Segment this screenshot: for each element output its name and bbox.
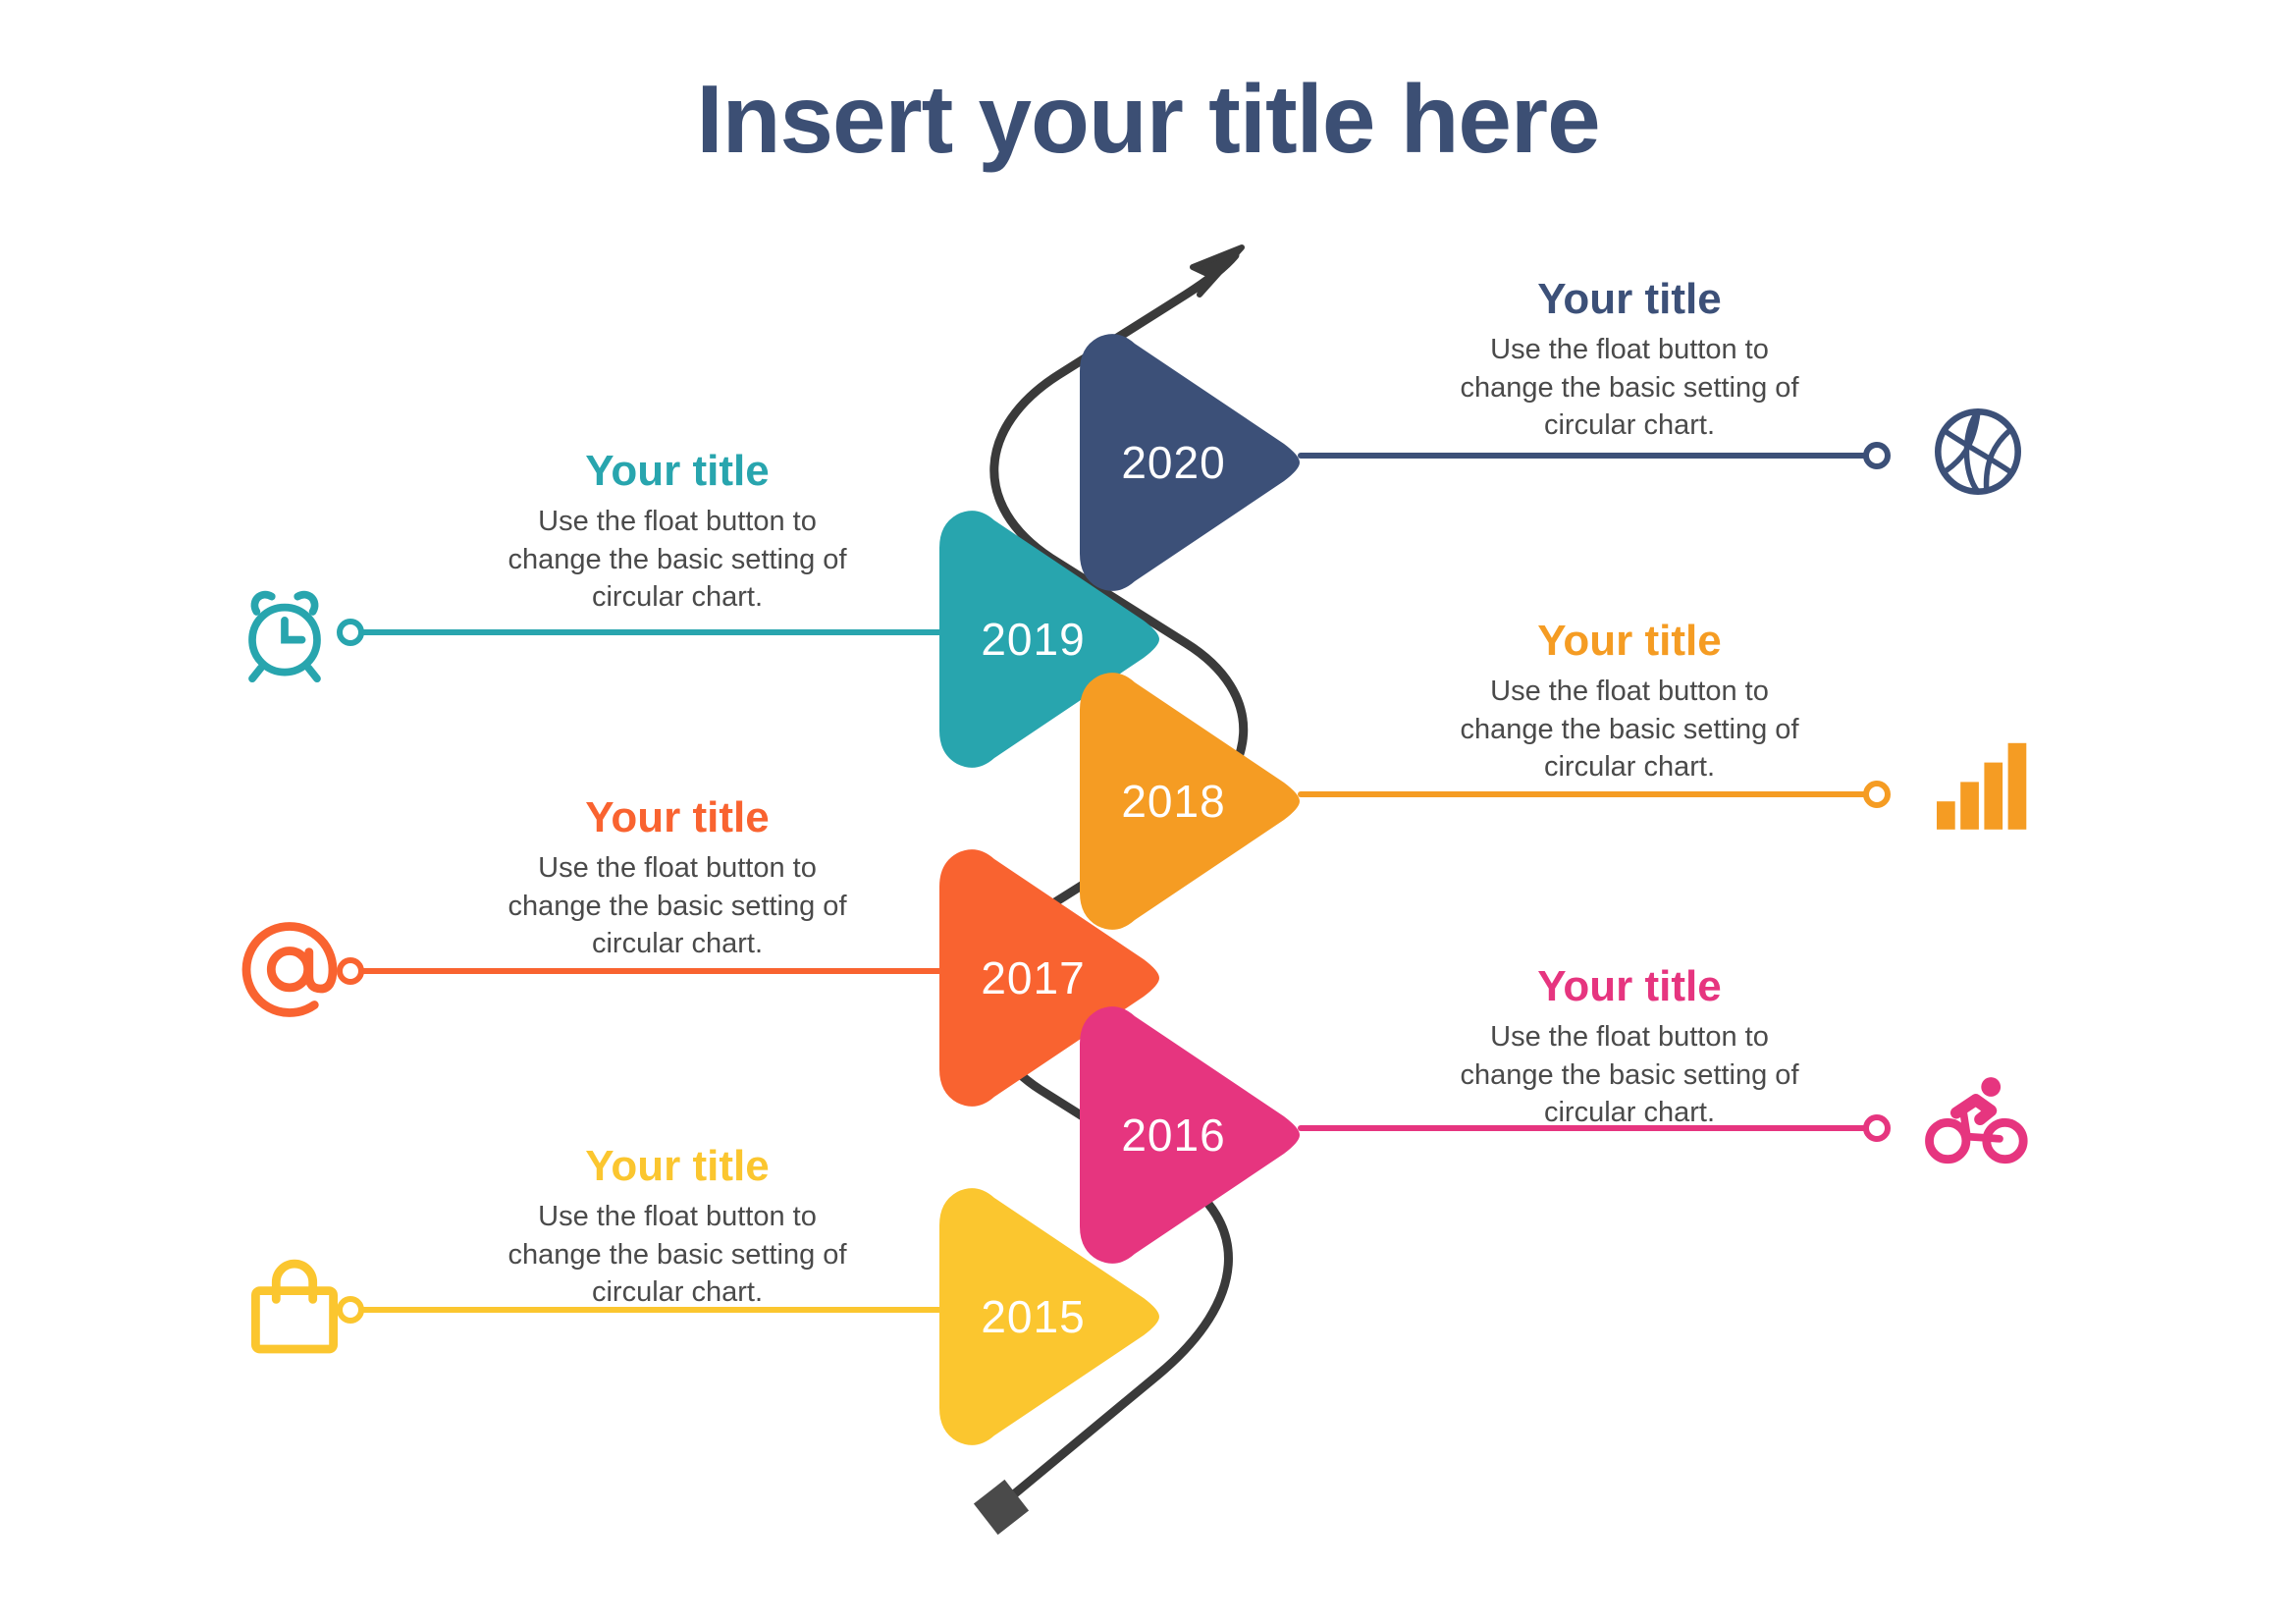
content-body-2017: Use the float button tochange the basic … xyxy=(422,849,933,962)
page-title: Insert your title here xyxy=(0,69,2296,170)
content-block-2017: Your title Use the float button tochange… xyxy=(422,793,933,962)
content-body-2016: Use the float button tochange the basic … xyxy=(1374,1018,1885,1131)
content-title-2020: Your title xyxy=(1374,275,1885,323)
alarm-clock-icon xyxy=(231,579,339,687)
content-title-2019: Your title xyxy=(422,447,933,495)
infographic-stage: Insert your title here 2020 Your title U… xyxy=(0,0,2296,1624)
connector-line-2019 xyxy=(356,629,945,635)
content-body-2018: Use the float button tochange the basic … xyxy=(1374,673,1885,785)
connector-dot-2020[interactable] xyxy=(1863,442,1891,469)
content-body-2020: Use the float button tochange the basic … xyxy=(1374,331,1885,444)
bar-chart-icon xyxy=(1926,734,2034,842)
content-block-2020: Your title Use the float button tochange… xyxy=(1374,275,1885,444)
basketball-icon xyxy=(1924,398,2032,506)
content-title-2016: Your title xyxy=(1374,962,1885,1010)
content-body-2015: Use the float button tochange the basic … xyxy=(422,1198,933,1311)
content-title-2015: Your title xyxy=(422,1142,933,1190)
content-block-2018: Your title Use the float button tochange… xyxy=(1374,617,1885,785)
connector-line-2020 xyxy=(1298,453,1877,459)
content-title-2017: Your title xyxy=(422,793,933,841)
cyclist-icon xyxy=(1924,1065,2032,1173)
connector-dot-2019[interactable] xyxy=(337,619,364,646)
connector-line-2017 xyxy=(356,968,945,974)
content-block-2019: Your title Use the float button tochange… xyxy=(422,447,933,616)
timeline-marker-2015[interactable]: 2015 xyxy=(928,1178,1168,1455)
shopping-bag-icon xyxy=(240,1252,348,1360)
content-block-2015: Your title Use the float button tochange… xyxy=(422,1142,933,1311)
content-title-2018: Your title xyxy=(1374,617,1885,665)
connector-line-2018 xyxy=(1298,791,1877,797)
content-block-2016: Your title Use the float button tochange… xyxy=(1374,962,1885,1131)
at-sign-icon xyxy=(236,913,344,1021)
content-body-2019: Use the float button tochange the basic … xyxy=(422,503,933,616)
